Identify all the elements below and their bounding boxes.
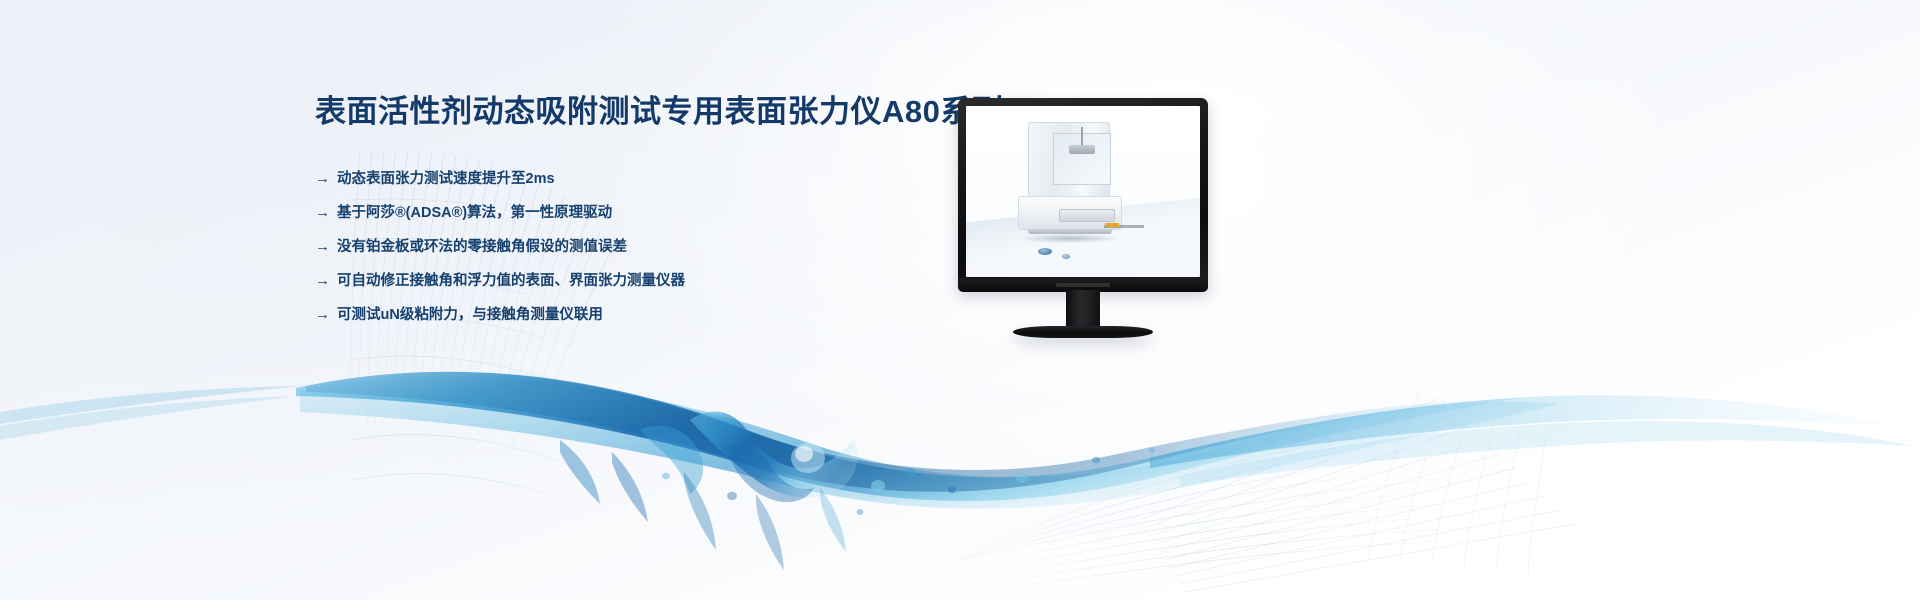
list-item-label: 基于阿莎®(ADSA®)算法，第一性原理驱动: [337, 196, 612, 230]
instrument-hood: [1028, 122, 1110, 198]
monitor-stand-base: [1013, 326, 1153, 338]
list-item-label: 可自动修正接触角和浮力值的表面、界面张力测量仪器: [337, 264, 685, 298]
list-item: → 可测试uN级粘附力，与接触角测量仪联用: [315, 298, 955, 332]
arrow-icon: →: [315, 196, 337, 230]
product-banner: 表面活性剂动态吸附测试专用表面张力仪A80系列 → 动态表面张力测试速度提升至2…: [0, 0, 1920, 600]
arrow-icon: →: [315, 298, 337, 332]
arrow-icon: →: [315, 264, 337, 298]
instrument-indicator: [1105, 223, 1119, 227]
monitor-logo: [1056, 283, 1110, 287]
surface-tension-instrument: [1014, 122, 1126, 254]
list-item-label: 可测试uN级粘附力，与接触角测量仪联用: [337, 298, 603, 332]
list-item: → 没有铂金板或环法的零接触角假设的测值误差: [315, 230, 955, 264]
arrow-icon: →: [315, 162, 337, 196]
monitor-bezel: [958, 98, 1208, 290]
instrument-base: [1028, 229, 1112, 234]
water-splash-graphic: [0, 300, 1920, 600]
product-monitor-image: [958, 98, 1208, 328]
feature-list: → 动态表面张力测试速度提升至2ms → 基于阿莎®(ADSA®)算法，第一性原…: [315, 162, 955, 332]
banner-content: 表面活性剂动态吸附测试专用表面张力仪A80系列 → 动态表面张力测试速度提升至2…: [315, 90, 955, 332]
instrument-probe-rod: [1081, 127, 1083, 147]
water-droplet-small-icon: [1062, 254, 1070, 259]
arrow-icon: →: [315, 230, 337, 264]
water-droplet-icon: [1038, 248, 1052, 255]
list-item-label: 没有铂金板或环法的零接触角假设的测值误差: [337, 230, 627, 264]
monitor-screen: [966, 106, 1200, 277]
page-title: 表面活性剂动态吸附测试专用表面张力仪A80系列: [315, 90, 955, 134]
list-item-label: 动态表面张力测试速度提升至2ms: [337, 162, 555, 196]
list-item: → 基于阿莎®(ADSA®)算法，第一性原理驱动: [315, 196, 955, 230]
list-item: → 动态表面张力测试速度提升至2ms: [315, 162, 955, 196]
instrument-display: [1059, 209, 1115, 222]
instrument-shadow: [1020, 234, 1120, 243]
instrument-body: [1018, 196, 1122, 230]
list-item: → 可自动修正接触角和浮力值的表面、界面张力测量仪器: [315, 264, 955, 298]
instrument-sample-pan: [1069, 145, 1095, 154]
